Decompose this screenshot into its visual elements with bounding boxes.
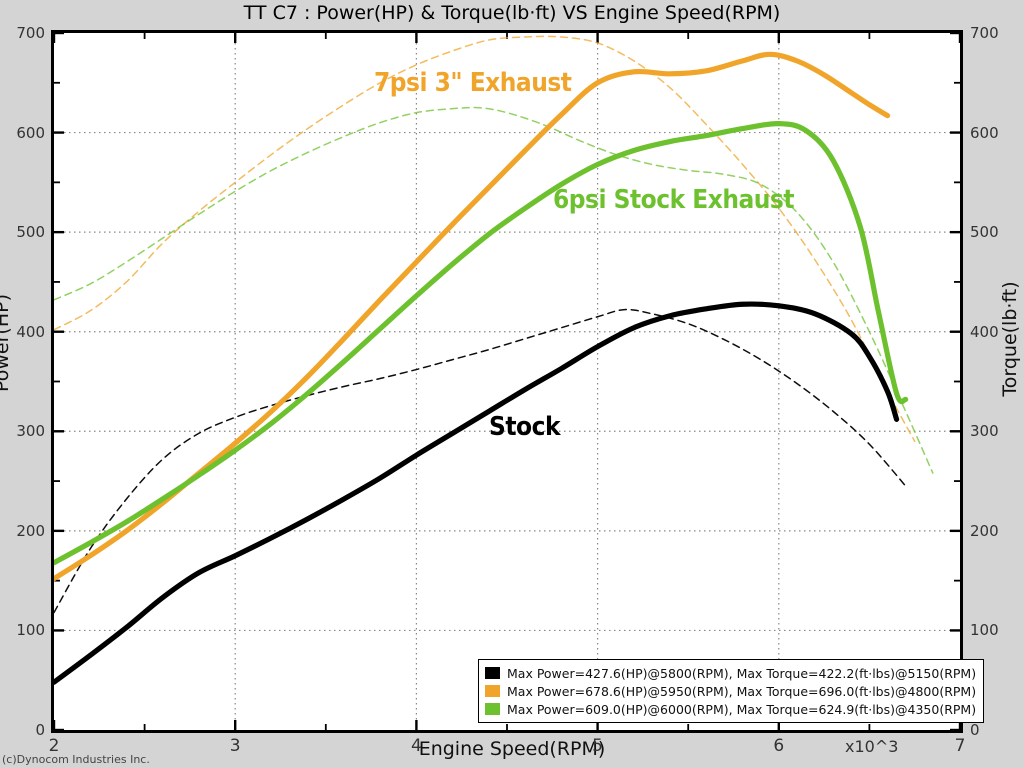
y-tick-label-right: 200 <box>970 522 1014 540</box>
series-line <box>54 310 906 613</box>
x-tick-label: 4 <box>396 736 436 756</box>
curve-annotation: Stock <box>489 412 560 442</box>
x-axis-exponent-label: x10^3 <box>845 737 898 756</box>
y-tick-label-left: 400 <box>0 323 45 341</box>
x-tick-label: 7 <box>940 736 980 756</box>
y-tick-label-right: 400 <box>970 323 1014 341</box>
y-tick-label-left: 600 <box>0 124 45 142</box>
y-tick-label-left: 500 <box>0 223 45 241</box>
y-tick-label-left: 100 <box>0 621 45 639</box>
copyright-notice: (c)Dynocom Industries Inc. <box>2 753 150 766</box>
y-tick-label-right: 100 <box>970 621 1014 639</box>
legend-item: Max Power=678.6(HP)@5950(RPM), Max Torqu… <box>485 682 976 700</box>
legend-color-swatch <box>485 667 500 679</box>
y-tick-label-right: 300 <box>970 422 1014 440</box>
legend-color-swatch <box>485 703 500 715</box>
curve-annotation: 7psi 3" Exhaust <box>374 68 571 98</box>
y-tick-label-left: 300 <box>0 422 45 440</box>
legend-item-label: Max Power=609.0(HP)@6000(RPM), Max Torqu… <box>507 702 976 717</box>
y-tick-label-right: 500 <box>970 223 1014 241</box>
plot-canvas <box>54 33 960 730</box>
dyno-chart-window: TT C7 : Power(HP) & Torque(lb·ft) VS Eng… <box>0 0 1024 768</box>
x-tick-label: 6 <box>759 736 799 756</box>
y-tick-label-left: 700 <box>0 24 45 42</box>
page-title: TT C7 : Power(HP) & Torque(lb·ft) VS Eng… <box>0 2 1024 24</box>
legend-color-swatch <box>485 685 500 697</box>
legend: Max Power=427.6(HP)@5800(RPM), Max Torqu… <box>478 659 984 723</box>
series-line <box>54 304 897 682</box>
curve-annotation: 6psi Stock Exhaust <box>553 185 794 215</box>
y-tick-label-left: 200 <box>0 522 45 540</box>
plot-area <box>51 30 963 733</box>
x-tick-label: 3 <box>215 736 255 756</box>
y-tick-label-right: 700 <box>970 24 1014 42</box>
legend-item: Max Power=427.6(HP)@5800(RPM), Max Torqu… <box>485 664 976 682</box>
y-tick-label-right: 600 <box>970 124 1014 142</box>
x-tick-label: 5 <box>578 736 618 756</box>
legend-item: Max Power=609.0(HP)@6000(RPM), Max Torqu… <box>485 700 976 718</box>
legend-item-label: Max Power=427.6(HP)@5800(RPM), Max Torqu… <box>507 666 976 681</box>
y-axis-label-left: Power(HP) <box>0 263 13 423</box>
legend-item-label: Max Power=678.6(HP)@5950(RPM), Max Torqu… <box>507 684 976 699</box>
